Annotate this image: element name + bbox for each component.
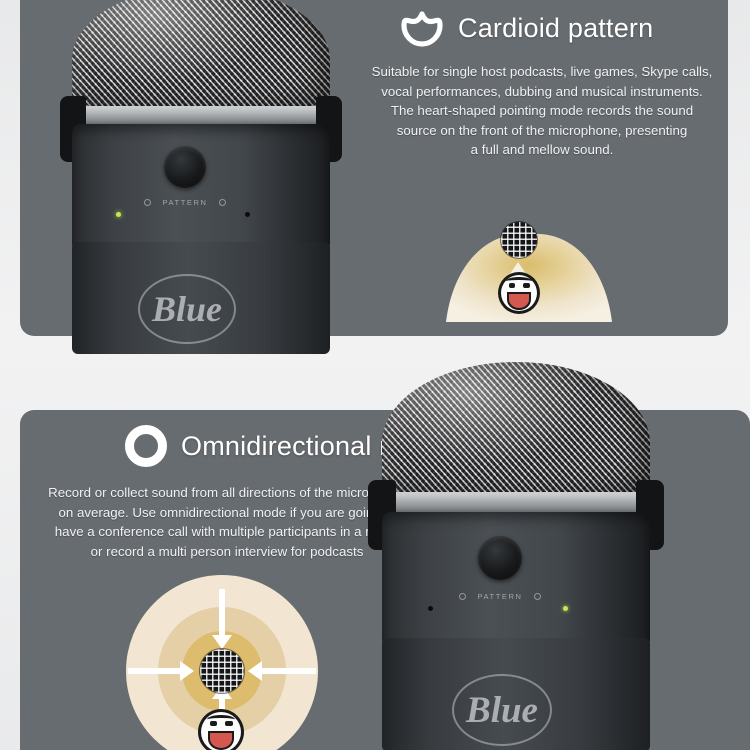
description-line: Suitable for single host podcasts, live … [368, 62, 716, 82]
heading-cardioid: Cardioid pattern [400, 8, 653, 48]
mic-pattern-row: PATTERN [112, 198, 258, 207]
mic-led-left [116, 212, 121, 217]
mic-capsule-icon [501, 222, 537, 258]
cardioid-heart-icon [400, 8, 444, 48]
mic-body: PATTERN [382, 512, 650, 648]
description-line: vocal performances, dubbing and musical … [368, 82, 716, 102]
mic-led-right [563, 606, 568, 611]
omni-arrow-left [128, 668, 182, 674]
product-infographic: Cardioid pattern Suitable for single hos… [0, 0, 750, 750]
singing-face-icon [198, 709, 244, 750]
pattern-indicator-right-icon [534, 593, 541, 600]
mic-pattern-label: PATTERN [477, 592, 522, 601]
pattern-indicator-right-icon [219, 199, 226, 206]
face-eye-right [523, 283, 530, 288]
description-line: source on the front of the microphone, p… [368, 121, 716, 141]
mic-base: Blue [382, 638, 650, 750]
face-eye-right [225, 721, 232, 726]
mic-grille [72, 0, 330, 114]
description-line: on average. Use omnidirectional mode if … [34, 503, 420, 523]
diagram-cardioid-polar [440, 186, 626, 332]
mic-led-row [116, 212, 250, 217]
mic-body: PATTERN [72, 124, 330, 252]
blue-logo: Blue [452, 674, 552, 746]
description-line: Record or collect sound from all directi… [34, 483, 420, 503]
face-eye-left [210, 721, 217, 726]
mic-pattern-row: PATTERN [424, 592, 576, 601]
omni-arrow-top [219, 589, 225, 637]
mic-gain-knob[interactable] [164, 146, 206, 188]
diagram-omnidirectional-polar [126, 583, 318, 750]
mic-pattern-label: PATTERN [162, 198, 207, 207]
blue-logo: Blue [138, 274, 236, 344]
omni-arrow-right [262, 668, 316, 674]
mic-gain-knob[interactable] [478, 536, 522, 580]
mic-led-row [428, 606, 568, 611]
heading-cardioid-title: Cardioid pattern [458, 13, 653, 44]
singing-face-icon [498, 272, 540, 314]
mic-capsule-icon [200, 649, 244, 693]
omnidirectional-ring-icon [125, 425, 167, 467]
description-line: have a conference call with multiple par… [34, 522, 420, 542]
description-cardioid: Suitable for single host podcasts, live … [368, 62, 716, 160]
pattern-indicator-left-icon [459, 593, 466, 600]
mic-led-right [245, 212, 250, 217]
mic-led-left [428, 606, 433, 611]
description-line: The heart-shaped pointing mode records t… [368, 101, 716, 121]
mic-base: Blue [72, 242, 330, 354]
microphone-omnidirectional: PATTERN Blue [382, 362, 650, 750]
description-line: a full and mellow sound. [368, 140, 716, 160]
face-eye-left [509, 283, 516, 288]
pattern-indicator-left-icon [144, 199, 151, 206]
description-line: or record a multi person interview for p… [34, 542, 420, 562]
description-omnidirectional: Record or collect sound from all directi… [34, 483, 420, 561]
microphone-cardioid: PATTERN Blue [72, 0, 330, 352]
cardioid-fan-shape [440, 186, 626, 332]
mic-grille [382, 362, 650, 502]
